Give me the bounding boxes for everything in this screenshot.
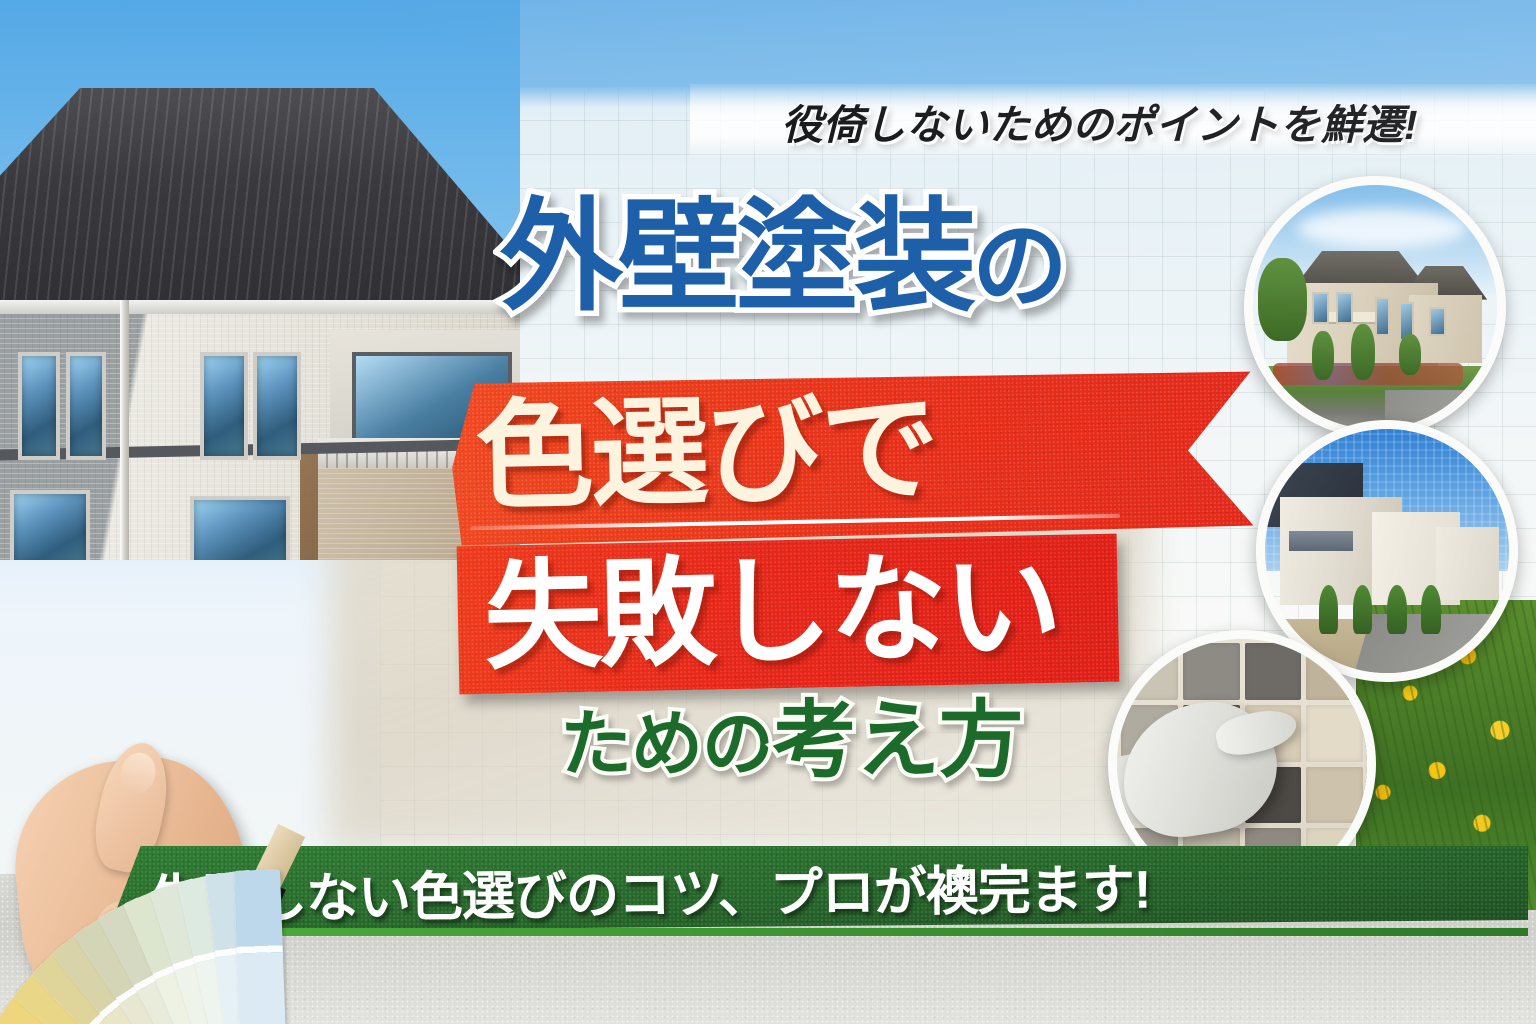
color-swatch — [237, 952, 286, 1024]
color-swatch — [234, 869, 283, 953]
photo-content — [1253, 185, 1497, 429]
title-particle: の — [972, 213, 1064, 320]
page-title-line2: 色選びで — [475, 365, 1258, 536]
sample-tile — [1183, 643, 1240, 700]
hedge — [1421, 585, 1441, 634]
window — [1336, 292, 1353, 324]
window — [1312, 292, 1329, 324]
subtitle-prefix: ための — [560, 705, 773, 785]
shrub — [1399, 334, 1421, 375]
sample-tile — [1245, 643, 1302, 700]
hedge — [1319, 585, 1339, 634]
tree — [1258, 258, 1307, 341]
footer-tagline: 失敗しない色選びのコツ、プロが襖完ます! — [150, 839, 1491, 939]
sample-tile — [1121, 643, 1178, 700]
balcony — [1289, 531, 1352, 551]
window — [1375, 297, 1390, 336]
sample-tile — [1306, 767, 1363, 824]
title-main: 外壁塗装 — [500, 189, 972, 325]
kicker-text: 役倚しないためのポイントを鮮遷! — [690, 90, 1510, 152]
window — [18, 352, 60, 460]
photo-content — [1265, 429, 1509, 673]
page-title-line1: 外壁塗装の — [500, 196, 1064, 318]
subtitle-main: 考え方 — [773, 693, 1022, 787]
circle-photo-house — [1244, 176, 1506, 438]
sample-tile — [1306, 643, 1363, 700]
window — [66, 352, 106, 460]
sample-tile — [1306, 705, 1363, 762]
window — [200, 352, 248, 460]
page-subtitle: ための考え方 — [560, 698, 1022, 782]
hero-banner: 役倚しないためのポイントを鮮遷! 外壁塗装の 色選びで 失敗しない ための考え方 — [0, 0, 1536, 1024]
shrub — [1351, 324, 1375, 380]
hedge — [1353, 585, 1373, 634]
window — [253, 352, 301, 460]
shrub — [1312, 331, 1334, 380]
building-right — [1436, 527, 1499, 600]
main-house-photo — [0, 0, 520, 560]
window — [1429, 307, 1446, 336]
hedge — [1387, 585, 1407, 634]
